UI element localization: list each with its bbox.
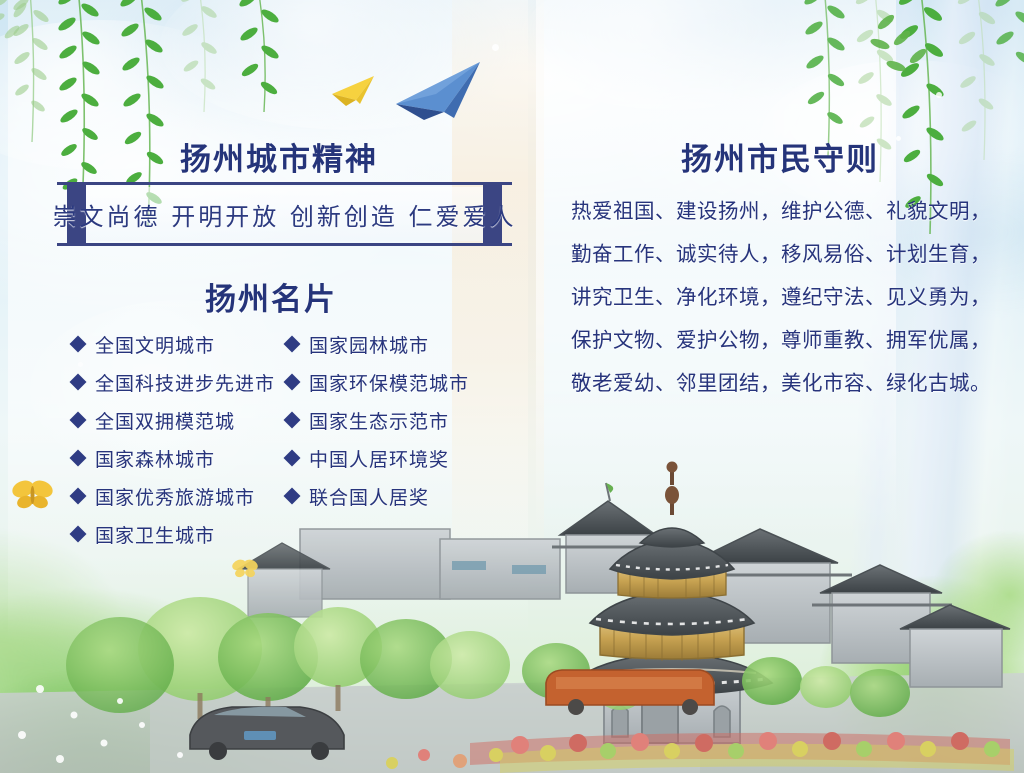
willow-sprig-icon <box>866 8 986 138</box>
citizen-rules-body: 热爱祖国、建设扬州，维护公德、礼貌文明， 勤奋工作、诚实待人，移风易俗、计划生育… <box>571 190 981 405</box>
citizen-rule-line: 勤奋工作、诚实待人，移风易俗、计划生育， <box>571 233 981 276</box>
city-spirit-title: 扬州城市精神 <box>180 134 378 179</box>
diamond-bullet-icon <box>70 526 87 543</box>
diamond-bullet-icon <box>70 374 87 391</box>
diamond-bullet-icon <box>284 450 301 467</box>
paper-plane-yellow-icon <box>330 74 376 108</box>
frame-rule-bottom <box>57 243 512 246</box>
diamond-bullet-icon <box>284 488 301 505</box>
honor-list-item: 国家优秀旅游城市 <box>72 477 275 515</box>
sparkle-dot <box>492 44 499 51</box>
honor-list-item: 国家卫生城市 <box>72 515 275 553</box>
honor-list-item: 国家生态示范市 <box>286 401 469 439</box>
paper-plane-blue-icon <box>392 60 484 122</box>
diamond-bullet-icon <box>70 336 87 353</box>
honor-list-item: 国家环保模范城市 <box>286 363 469 401</box>
honor-label: 全国双拥模范城 <box>95 407 235 434</box>
honor-list-item: 联合国人居奖 <box>286 477 469 515</box>
honor-list-item: 中国人居环境奖 <box>286 439 469 477</box>
sparkle-dot <box>896 136 901 141</box>
citizen-rule-line: 敬老爱幼、邻里团结，美化市容、绿化古城。 <box>571 362 981 405</box>
poster-canvas: 扬州城市精神 崇文尚德 开明开放 创新创造 仁爱爱人 扬州名片 全国文明城市 全… <box>0 0 1024 773</box>
honor-list-item: 国家森林城市 <box>72 439 275 477</box>
honor-label: 国家生态示范市 <box>309 407 449 434</box>
city-cards-title: 扬州名片 <box>205 274 337 319</box>
frame-rule-top <box>57 182 512 185</box>
diamond-bullet-icon <box>284 412 301 429</box>
honor-label: 国家环保模范城市 <box>309 369 469 396</box>
honor-list-item: 全国双拥模范城 <box>72 401 275 439</box>
diamond-bullet-icon <box>284 336 301 353</box>
honor-list-item: 国家园林城市 <box>286 325 469 363</box>
honor-label: 国家卫生城市 <box>95 521 215 548</box>
honor-list-item: 全国文明城市 <box>72 325 275 363</box>
diamond-bullet-icon <box>284 374 301 391</box>
honor-label: 中国人居环境奖 <box>309 445 449 472</box>
honor-list-right-column: 国家园林城市 国家环保模范城市 国家生态示范市 中国人居环境奖 联合国人居奖 <box>286 325 469 515</box>
citizen-rules-title: 扬州市民守则 <box>681 134 879 179</box>
honor-list-left-column: 全国文明城市 全国科技进步先进市 全国双拥模范城 国家森林城市 国家优秀旅游城市… <box>72 325 275 553</box>
sparkle-dot <box>936 92 942 98</box>
citizen-rule-line: 保护文物、爱护公物，尊师重教、拥军优属， <box>571 319 981 362</box>
diamond-bullet-icon <box>70 488 87 505</box>
citizen-rule-line: 热爱祖国、建设扬州，维护公德、礼貌文明， <box>571 190 981 233</box>
honor-label: 全国文明城市 <box>95 331 215 358</box>
butterfly-icon <box>10 478 54 512</box>
citizen-rule-line: 讲究卫生、净化环境，遵纪守法、见义勇为， <box>571 276 981 319</box>
honor-label: 联合国人居奖 <box>309 483 429 510</box>
honor-label: 国家森林城市 <box>95 445 215 472</box>
honor-label: 全国科技进步先进市 <box>95 369 275 396</box>
diamond-bullet-icon <box>70 412 87 429</box>
city-spirit-motto-frame: 崇文尚德 开明开放 创新创造 仁爱爱人 <box>57 182 512 246</box>
motto-inner-panel: 崇文尚德 开明开放 创新创造 仁爱爱人 <box>86 187 483 241</box>
diamond-bullet-icon <box>70 450 87 467</box>
honor-label: 国家优秀旅游城市 <box>95 483 255 510</box>
city-spirit-motto-text: 崇文尚德 开明开放 创新创造 仁爱爱人 <box>53 197 517 232</box>
honor-label: 国家园林城市 <box>309 331 429 358</box>
butterfly-icon <box>231 558 259 580</box>
honor-list-item: 全国科技进步先进市 <box>72 363 275 401</box>
